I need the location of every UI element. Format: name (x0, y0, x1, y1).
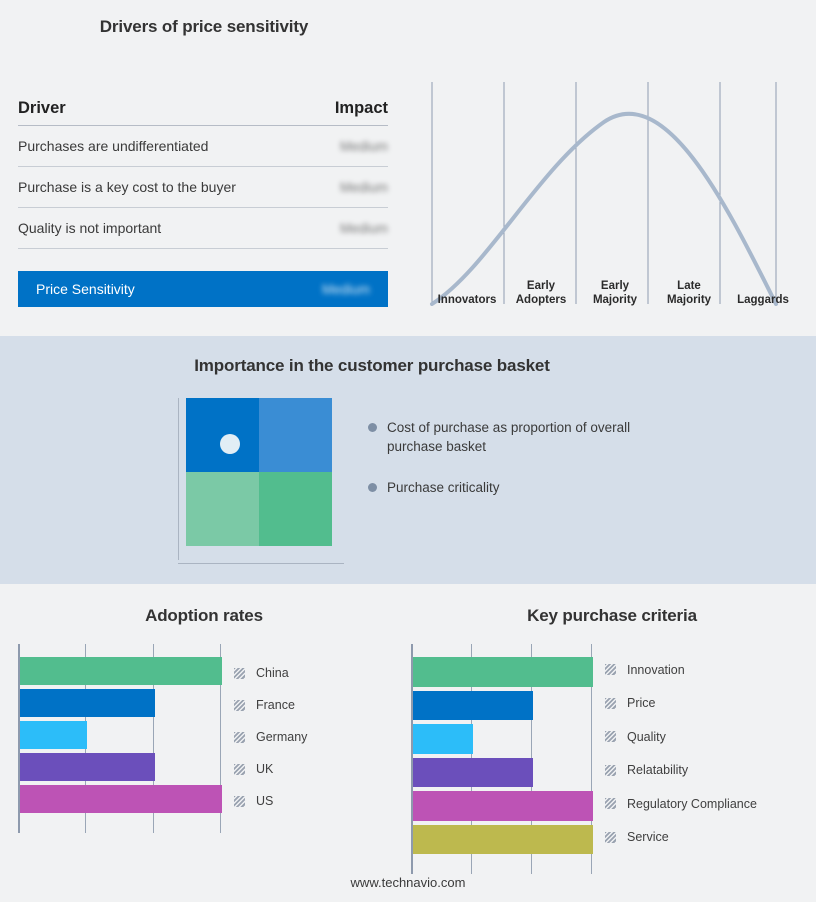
legend-label: Regulatory Compliance (627, 797, 757, 811)
legend-label: Purchase criticality (387, 478, 500, 497)
drivers-panel: Drivers of price sensitivity Driver Impa… (0, 0, 408, 336)
bar (20, 657, 222, 685)
legend-label: Quality (627, 730, 666, 744)
lifecycle-segment-early-adopters: Early Adopters (504, 279, 578, 308)
bar (20, 689, 155, 717)
bar-row (20, 721, 222, 753)
legend-swatch-icon (234, 668, 245, 679)
bar-row (413, 691, 593, 725)
bar (413, 724, 473, 754)
table-row: Purchases are undifferentiated Medium (18, 126, 388, 167)
impact-redacted: Medium (340, 221, 388, 236)
legend-item: France (234, 689, 307, 721)
quadrant-bottom-right (259, 472, 332, 546)
matrix-y-axis (178, 398, 179, 560)
bar (20, 721, 87, 749)
quadrant-bottom-left (186, 472, 259, 546)
bar-row (20, 753, 222, 785)
legend-item: Relatability (605, 754, 757, 788)
lifecycle-segment-late-majority: Late Majority (652, 279, 726, 308)
purchase-basket-title: Importance in the customer purchase bask… (0, 356, 744, 376)
purchase-basket-legend: Cost of purchase as proportion of overal… (368, 418, 668, 519)
bar-row (20, 785, 222, 817)
legend-label: Price (627, 696, 655, 710)
legend-swatch-icon (605, 798, 616, 809)
legend-label: Relatability (627, 763, 688, 777)
legend-label: Service (627, 830, 669, 844)
bullet-dot-icon (368, 423, 377, 432)
lifecycle-segment-early-majority: Early Majority (578, 279, 652, 308)
legend-item: Quality (605, 720, 757, 754)
legend-swatch-icon (605, 765, 616, 776)
legend-item: China (234, 657, 307, 689)
quadrant-top-left (186, 398, 259, 472)
quadrant-top-right (259, 398, 332, 472)
impact-redacted: Medium (340, 180, 388, 195)
adoption-rates-title: Adoption rates (0, 606, 408, 626)
label-line1: Early (578, 279, 652, 293)
bar (413, 825, 593, 855)
bars-group (413, 657, 593, 858)
impact-value: Medium (340, 220, 388, 236)
legend-item: Innovation (605, 653, 757, 687)
label-line2: Adopters (504, 293, 578, 307)
key-purchase-criteria-title: Key purchase criteria (408, 606, 816, 626)
price-sensitivity-highlight-row: Price Sensitivity Medium (18, 271, 388, 307)
table-header-row: Driver Impact (18, 92, 388, 126)
lifecycle-segment-laggards: Laggards (726, 293, 800, 308)
drivers-table: Driver Impact Purchases are undifferenti… (18, 92, 388, 249)
column-header-driver: Driver (18, 99, 66, 118)
legend-swatch-icon (234, 700, 245, 711)
label-line2: Majority (578, 293, 652, 307)
lifecycle-segment-labels: Innovators Early Adopters Early Majority… (430, 270, 800, 308)
highlight-impact-value: Medium (322, 281, 370, 297)
matrix-quadrants (186, 398, 332, 546)
label-line2: Majority (652, 293, 726, 307)
legend-item: Cost of purchase as proportion of overal… (368, 418, 668, 456)
matrix-x-axis (178, 563, 344, 564)
column-header-impact: Impact (335, 99, 388, 118)
legend-label: Innovation (627, 663, 685, 677)
legend-item: UK (234, 753, 307, 785)
bar (413, 791, 593, 821)
key-purchase-criteria-legend: InnovationPriceQualityRelatabilityRegula… (605, 653, 757, 854)
bar (413, 758, 533, 788)
lifecycle-segment-innovators: Innovators (430, 293, 504, 308)
legend-item: Germany (234, 721, 307, 753)
bar (20, 753, 155, 781)
legend-swatch-icon (234, 764, 245, 775)
purchase-basket-matrix (178, 398, 344, 564)
table-row: Purchase is a key cost to the buyer Medi… (18, 167, 388, 208)
legend-label: UK (256, 762, 273, 776)
driver-name: Purchase is a key cost to the buyer (18, 179, 236, 195)
legend-swatch-icon (234, 732, 245, 743)
label-line2: Laggards (726, 293, 800, 307)
impact-value: Medium (340, 179, 388, 195)
bar-row (413, 724, 593, 758)
driver-name: Purchases are undifferentiated (18, 138, 208, 154)
legend-item: Service (605, 821, 757, 855)
legend-swatch-icon (234, 796, 245, 807)
label-line2: Innovators (430, 293, 504, 307)
legend-label: Cost of purchase as proportion of overal… (387, 418, 645, 456)
impact-redacted: Medium (340, 139, 388, 154)
legend-label: Germany (256, 730, 307, 744)
legend-swatch-icon (605, 832, 616, 843)
legend-swatch-icon (605, 698, 616, 709)
legend-label: China (256, 666, 289, 680)
bar-row (413, 825, 593, 859)
bar-row (20, 657, 222, 689)
footer-url: www.technavio.com (0, 875, 816, 890)
label-line1: Late (652, 279, 726, 293)
key-purchase-criteria-plot (411, 644, 591, 874)
infographic-page: Drivers of price sensitivity Driver Impa… (0, 0, 816, 902)
bullet-dot-icon (368, 483, 377, 492)
driver-name: Quality is not important (18, 220, 161, 236)
bar-row (413, 657, 593, 691)
legend-item: Purchase criticality (368, 478, 668, 497)
bar-row (20, 689, 222, 721)
bar-row (413, 791, 593, 825)
legend-item: Regulatory Compliance (605, 787, 757, 821)
label-line1: Early (504, 279, 578, 293)
bar (20, 785, 222, 813)
drivers-title: Drivers of price sensitivity (0, 17, 408, 37)
bar (413, 691, 533, 721)
legend-swatch-icon (605, 731, 616, 742)
bars-group (20, 657, 222, 817)
adoption-lifecycle-panel: Adoption lifecycle Innovators Early Adop… (408, 0, 816, 336)
bar-row (413, 758, 593, 792)
legend-item: US (234, 785, 307, 817)
impact-value: Medium (340, 138, 388, 154)
legend-item: Price (605, 687, 757, 721)
highlight-driver-name: Price Sensitivity (36, 281, 135, 297)
adoption-rates-plot (18, 644, 220, 833)
table-row: Quality is not important Medium (18, 208, 388, 249)
legend-swatch-icon (605, 664, 616, 675)
legend-label: France (256, 698, 295, 712)
bar (413, 657, 593, 687)
adoption-rates-legend: ChinaFranceGermanyUKUS (234, 657, 307, 817)
position-marker-dot (220, 434, 240, 454)
impact-redacted: Medium (322, 282, 370, 297)
legend-label: US (256, 794, 273, 808)
